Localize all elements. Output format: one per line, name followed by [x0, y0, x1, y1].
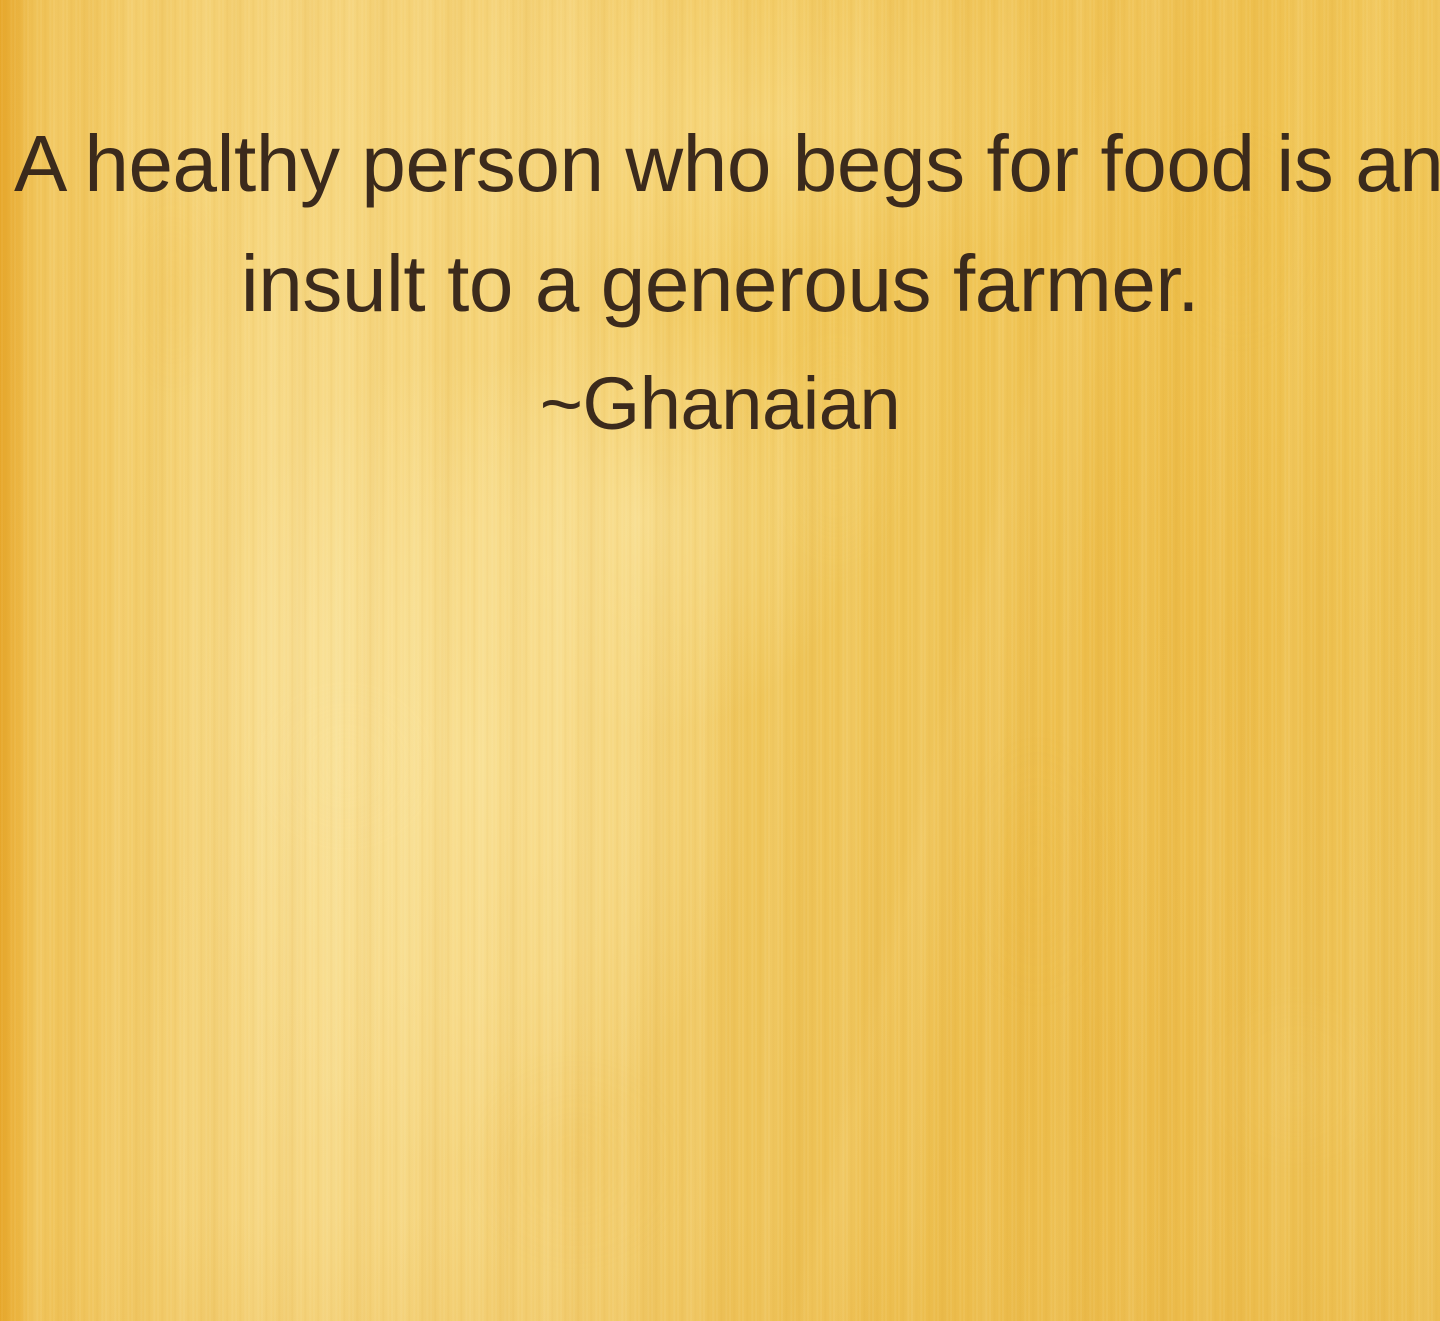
quote-text-block: A healthy person who begs for food is an…: [0, 104, 1440, 464]
quote-line-2: insult to a generous farmer.: [14, 224, 1426, 344]
quote-line-1: A healthy person who begs for food is an: [14, 104, 1426, 224]
quote-card: A healthy person who begs for food is an…: [0, 0, 1440, 1321]
quote-attribution: ~Ghanaian: [14, 344, 1426, 464]
